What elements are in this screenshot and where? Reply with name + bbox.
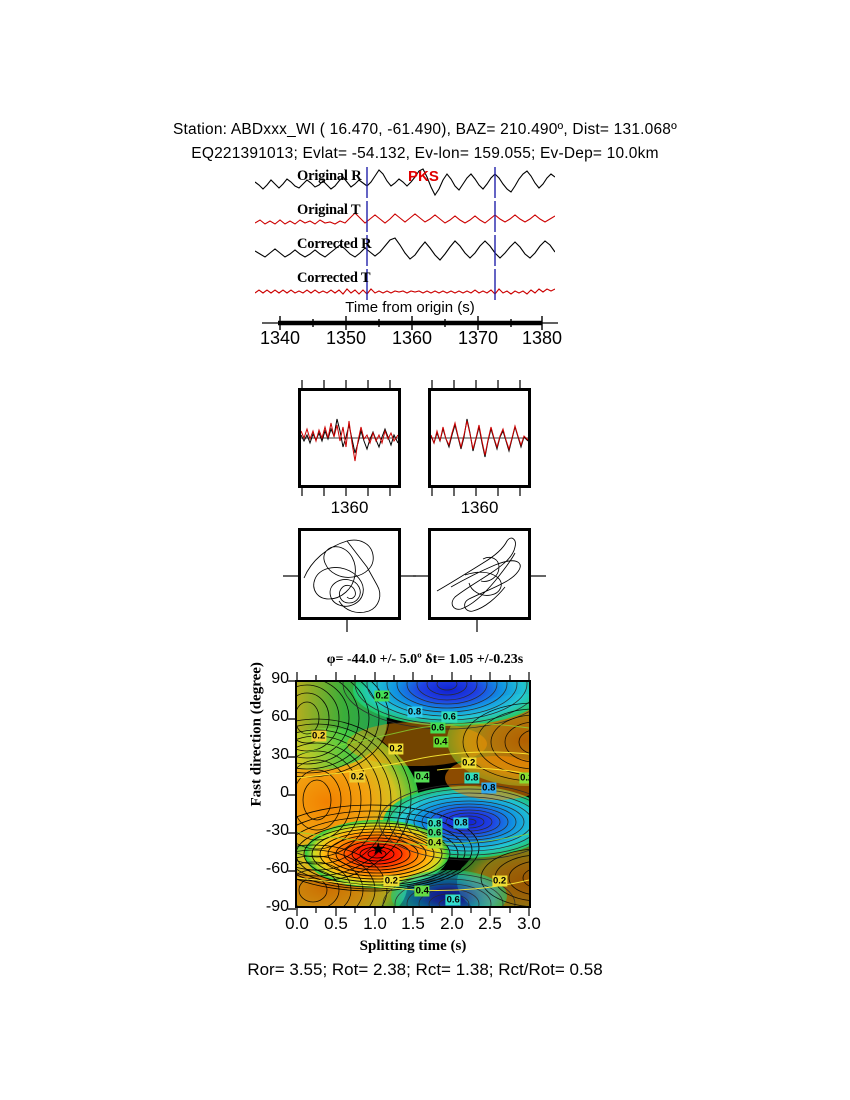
contour-label: 0.4 <box>433 736 448 747</box>
contour-label: 0.2 <box>374 690 389 701</box>
fast-slow-box-corrected-bottom-ticks <box>428 488 531 496</box>
trace-label-original-r: Original R <box>297 168 361 185</box>
contour-label: 0.8 <box>464 772 479 783</box>
fast-slow-box-uncorrected-top-ticks <box>298 380 401 388</box>
contour-label: 0.6 <box>446 894 461 905</box>
contour-label: 0.2 <box>492 876 507 887</box>
y-tick-m60: -60 <box>266 860 289 878</box>
x-tick-0-0: 0.0 <box>285 914 309 934</box>
contour-label: 0.2 <box>384 876 399 887</box>
fast-slow-box-uncorrected-bottom-ticks <box>298 488 401 496</box>
phase-label-pks: PKS <box>408 168 439 185</box>
y-tick-30: 30 <box>271 746 289 764</box>
time-tick-1360: 1360 <box>392 328 432 349</box>
energy-map-plot-area: 0.20.80.60.60.40.20.20.20.40.80.20.80.20… <box>295 680 531 908</box>
fast-slow-waveform-uncorrected <box>301 391 398 485</box>
y-axis-ticks <box>288 678 296 910</box>
x-tick-3-0: 3.0 <box>517 914 541 934</box>
trace-label-corrected-t: Corrected T <box>297 270 370 287</box>
trace-row-corrected-r: Corrected R <box>255 233 555 267</box>
particle-motion-path-uncorrected <box>301 531 398 617</box>
contour-label: 0.2 <box>461 757 476 768</box>
contour-label: 0.2 <box>311 730 326 741</box>
fast-slow-waveform-corrected <box>431 391 528 485</box>
x-tick-1-0: 1.0 <box>363 914 387 934</box>
fast-slow-box-corrected <box>428 388 531 488</box>
time-tick-1350: 1350 <box>326 328 366 349</box>
particle-motion-corrected <box>428 528 531 620</box>
x-tick-2-5: 2.5 <box>478 914 502 934</box>
particle-motion-corrected-left-axis <box>413 574 429 578</box>
splitting-parameters-title: φ= -44.0 +/- 5.0º δt= 1.05 +/-0.23s <box>0 652 850 668</box>
contour-label: 0.2 <box>388 744 403 755</box>
fast-slow-box-corrected-tick-label: 1360 <box>428 498 531 518</box>
particle-motion-uncorrected-left-axis <box>283 574 299 578</box>
time-tick-1380: 1380 <box>522 328 562 349</box>
x-axis-ticks-top <box>295 671 531 680</box>
trace-row-original-r: Original R <box>255 165 555 199</box>
y-tick-60: 60 <box>271 708 289 726</box>
quality-metrics-footer: Ror= 3.55; Rot= 2.38; Rct= 1.38; Rct/Rot… <box>0 960 850 980</box>
x-tick-2-0: 2.0 <box>440 914 464 934</box>
contour-label: 0.8 <box>481 782 496 793</box>
time-axis-title: Time from origin (s) <box>250 299 570 316</box>
time-tick-1370: 1370 <box>458 328 498 349</box>
x-tick-1-5: 1.5 <box>401 914 425 934</box>
x-axis-tick-labels: 0.0 0.5 1.0 1.5 2.0 2.5 3.0 <box>277 914 549 938</box>
energy-map-chart: 0.20.80.60.60.40.20.20.20.40.80.20.80.20… <box>295 680 531 908</box>
x-axis-label: Splitting time (s) <box>255 938 571 955</box>
contour-label: 0.8 <box>407 706 422 717</box>
contour-label: 0.4 <box>415 771 430 782</box>
trace-label-original-t: Original T <box>297 202 360 219</box>
fast-slow-box-uncorrected <box>298 388 401 488</box>
contour-label: 0.2 <box>350 771 365 782</box>
waveform-traces-panel: Original R Original T Corrected R Correc… <box>255 165 555 300</box>
minimum-star-marker: ★ <box>371 840 386 857</box>
contour-label: 0.4 <box>427 837 442 848</box>
particle-motion-path-corrected <box>431 531 528 617</box>
time-axis-tick-labels: 1340 1350 1360 1370 1380 <box>250 328 570 354</box>
particle-motion-corrected-right-axis <box>530 574 546 578</box>
contour-label: 0.4 <box>415 886 430 897</box>
contour-label: 0.2 <box>519 772 531 783</box>
contour-label: 0.6 <box>430 723 445 734</box>
header-line-event: EQ221391013; Evlat= -54.132, Ev-lon= 159… <box>0 142 850 166</box>
fast-slow-box-uncorrected-tick-label: 1360 <box>298 498 401 518</box>
time-tick-1340: 1340 <box>260 328 300 349</box>
trace-label-corrected-r: Corrected R <box>297 236 371 253</box>
particle-motion-uncorrected <box>298 528 401 620</box>
header-line-station: Station: ABDxxx_WI ( 16.470, -61.490), B… <box>0 118 850 142</box>
trace-row-original-t: Original T <box>255 199 555 233</box>
figure-header: Station: ABDxxx_WI ( 16.470, -61.490), B… <box>0 118 850 166</box>
contour-label: 0.6 <box>442 711 457 722</box>
contour-label: 0.8 <box>453 817 468 828</box>
y-tick-m30: -30 <box>266 822 289 840</box>
y-tick-90: 90 <box>271 670 289 688</box>
y-axis-label: Fast direction (degree) <box>249 667 266 807</box>
time-axis: Time from origin (s) 1340 1350 1360 1370… <box>250 302 570 357</box>
trace-row-corrected-t: Corrected T <box>255 267 555 301</box>
x-tick-0-5: 0.5 <box>324 914 348 934</box>
fast-slow-box-corrected-top-ticks <box>428 380 531 388</box>
